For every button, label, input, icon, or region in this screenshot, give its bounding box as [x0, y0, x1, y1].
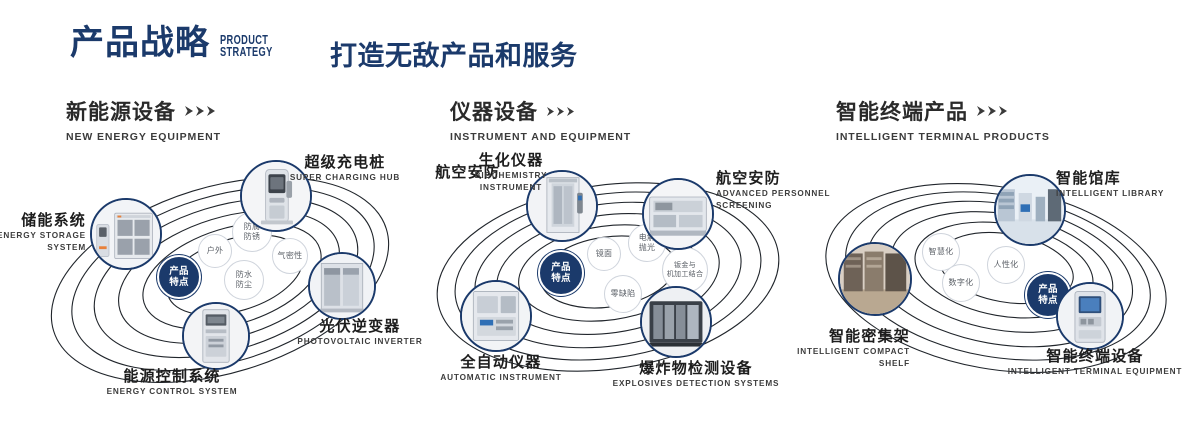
node-label-en: INTELLIGENT LIBRARY	[1056, 189, 1200, 199]
cluster-new-energy-equipment: 产品特点 户外 防腐防锈 防水防尘 气密性	[40, 150, 440, 390]
explosives-detector-photo	[642, 288, 710, 356]
node-label-en: EXPLOSIVES DETECTION SYSTEMS	[606, 379, 786, 389]
section-title-cn-text: 新能源设备	[66, 96, 176, 126]
feature-bubble: 气密性	[272, 238, 308, 274]
node-label-cn: 智能馆库	[1056, 170, 1200, 187]
section-title-en: NEW ENERGY EQUIPMENT	[66, 131, 221, 143]
feature-bubble: 户外	[198, 234, 232, 268]
section-title-cn-text: 智能终端产品	[836, 96, 968, 126]
section-header-intelligent: 智能终端产品 INTELLIGENT TERMINAL PRODUCTS	[836, 96, 1050, 143]
feature-bubble: 镜面	[587, 237, 621, 271]
core-bubble-text: 产品特点	[169, 266, 189, 288]
core-bubble-text: 产品特点	[551, 262, 571, 284]
section-header-new-energy: 新能源设备 NEW ENERGY EQUIPMENT	[66, 96, 221, 143]
automatic-instrument-photo	[462, 282, 530, 350]
node-label-en: INTELLIGENT COMPACT	[730, 347, 910, 357]
terminal-kiosk-photo	[1058, 284, 1122, 348]
node-label-intelligent-library: 智能馆库 INTELLIGENT LIBRARY	[1056, 170, 1200, 199]
node-label-energy-control-system: 能源控制系统 ENERGY CONTROL SYSTEM	[82, 368, 262, 397]
node-photo-automatic-instrument[interactable]	[460, 280, 532, 352]
smart-library-photo	[996, 176, 1064, 244]
node-label-cn: 光伏逆变器	[295, 318, 425, 335]
section-title-en: INSTRUMENT AND EQUIPMENT	[450, 131, 631, 143]
control-cabinet-photo	[184, 304, 248, 368]
node-label-cn: 生化仪器	[446, 152, 576, 169]
node-label-en-2: SHELF	[730, 359, 910, 369]
node-label-biochemistry-instrument: 生化仪器 BIOCHEMISTRY INSTRUMENT	[446, 152, 576, 193]
page-title-en-line2: STRATEGY	[220, 46, 273, 58]
section-title-cn-text: 仪器设备	[450, 96, 538, 126]
node-label-en: ENERGY STORAGE	[0, 231, 86, 241]
section-title-en: INTELLIGENT TERMINAL PRODUCTS	[836, 131, 1050, 143]
cluster-intelligent-terminal-products: 智慧化 数字化 人性化 产品特点	[810, 150, 1200, 390]
section-title-cn: 智能终端产品	[836, 96, 1050, 126]
page-title-en: PRODUCT STRATEGY	[220, 34, 273, 58]
chevron-right-icon	[547, 106, 577, 117]
page-title-cn: 产品战略	[70, 26, 210, 60]
core-bubble: 产品特点	[157, 255, 201, 299]
core-bubble-text: 产品特点	[1038, 284, 1058, 306]
node-label-en-2: INSTRUMENT	[446, 183, 576, 193]
node-photo-intelligent-compact-shelf[interactable]	[838, 242, 912, 316]
node-label-intelligent-terminal-equipment: 智能终端设备 INTELLIGENT TERMINAL EQUIPMENT	[1000, 348, 1190, 377]
node-photo-explosives-detection-systems[interactable]	[640, 286, 712, 358]
feature-bubble: 零缺陷	[604, 275, 642, 313]
section-title-cn: 仪器设备	[450, 96, 631, 126]
node-photo-energy-control-system[interactable]	[182, 302, 250, 370]
pv-inverter-cabinet-photo	[310, 254, 374, 318]
node-label-automatic-instrument: 全自动仪器 AUTOMATIC INSTRUMENT	[426, 354, 576, 383]
node-label-en: PHOTOVOLTAIC INVERTER	[295, 337, 425, 347]
core-bubble: 产品特点	[538, 250, 584, 296]
screening-machine-photo	[644, 180, 712, 248]
node-label-en: INTELLIGENT TERMINAL EQUIPMENT	[1000, 367, 1190, 377]
node-label-intelligent-compact-shelf: 智能密集架 INTELLIGENT COMPACT SHELF	[730, 328, 910, 369]
node-label-cn: 储能系统	[0, 212, 86, 229]
node-label-en: BIOCHEMISTRY	[446, 171, 576, 181]
chevron-right-icon	[185, 105, 219, 117]
section-title-cn: 新能源设备	[66, 96, 221, 126]
page-title: 产品战略 PRODUCT STRATEGY	[70, 26, 291, 60]
feature-bubble: 数字化	[942, 264, 980, 302]
node-photo-photovoltaic-inverter[interactable]	[308, 252, 376, 320]
node-label-energy-storage-system: 储能系统 ENERGY STORAGE SYSTEM	[0, 212, 86, 253]
node-label-en: AUTOMATIC INSTRUMENT	[426, 373, 576, 383]
section-header-instrument: 仪器设备 INSTRUMENT AND EQUIPMENT	[450, 96, 631, 143]
node-label-cn: 能源控制系统	[82, 368, 262, 385]
node-label-en-2: SYSTEM	[0, 243, 86, 253]
chevron-right-icon	[977, 105, 1011, 117]
feature-bubble: 人性化	[987, 246, 1025, 284]
node-label-en: ENERGY CONTROL SYSTEM	[82, 387, 262, 397]
node-photo-intelligent-terminal-equipment[interactable]	[1056, 282, 1124, 350]
node-label-cn: 智能终端设备	[1000, 348, 1190, 365]
energy-storage-cabinet-photo	[92, 200, 160, 268]
compact-shelf-photo	[840, 244, 910, 314]
page-subtitle: 打造无敌产品和服务	[330, 34, 578, 73]
node-photo-advanced-personnel-screening[interactable]	[642, 178, 714, 250]
node-label-photovoltaic-inverter: 光伏逆变器 PHOTOVOLTAIC INVERTER	[295, 318, 425, 347]
node-label-cn: 智能密集架	[730, 328, 910, 345]
node-photo-energy-storage-system[interactable]	[90, 198, 162, 270]
feature-bubble: 防水防尘	[224, 260, 264, 300]
node-label-cn: 全自动仪器	[426, 354, 576, 371]
poster-canvas: 产品战略 PRODUCT STRATEGY 打造无敌产品和服务 新能源设备 NE…	[0, 0, 1200, 422]
